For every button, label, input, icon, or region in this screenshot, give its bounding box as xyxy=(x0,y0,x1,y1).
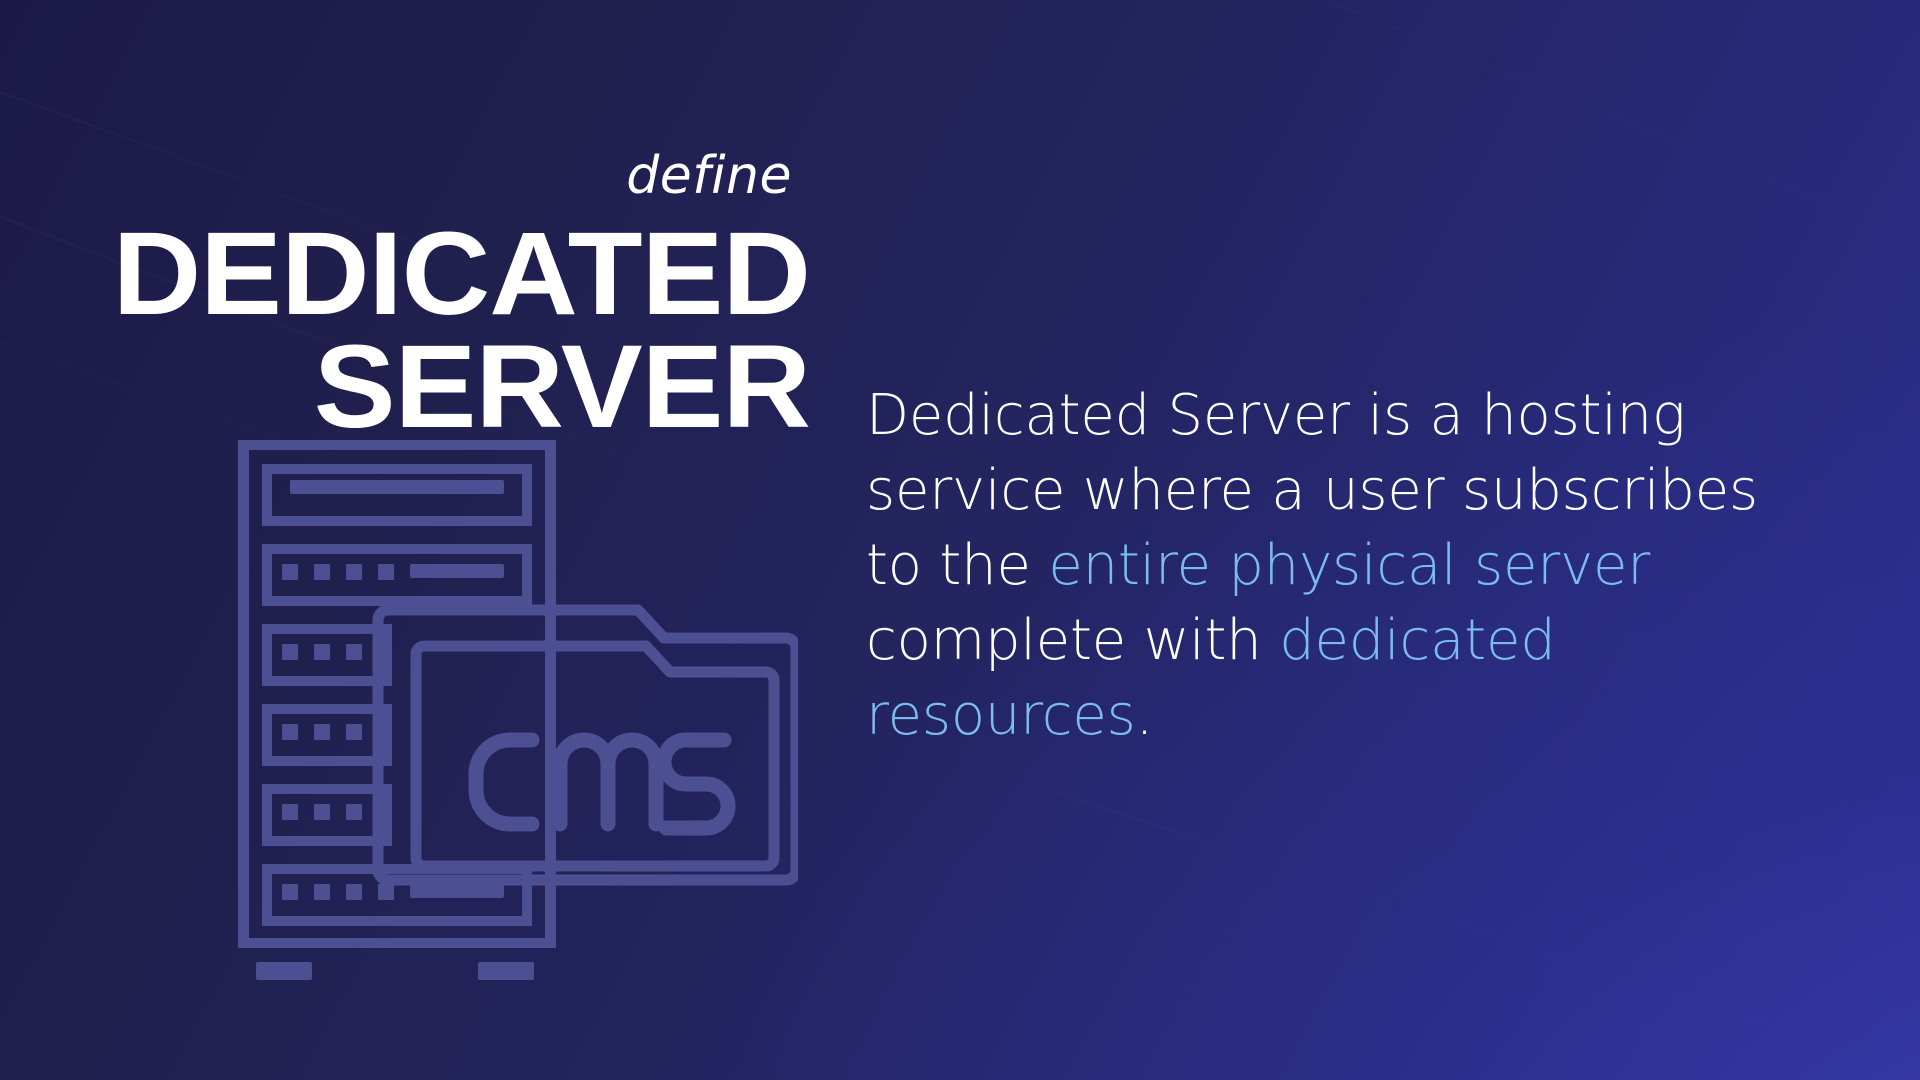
server-rack-cms-folder-icon xyxy=(238,440,798,988)
poster-canvas: define DEDICATED SERVER Dedicated Server… xyxy=(0,0,1920,1080)
background-streak xyxy=(1180,0,1920,279)
definition-segment-2: complete with xyxy=(866,608,1279,673)
definition-segment-1: entire physical server xyxy=(1048,533,1650,598)
heading-block: define DEDICATED SERVER xyxy=(0,150,810,441)
definition-segment-4: . xyxy=(1136,683,1154,748)
cms-folder-label xyxy=(476,740,728,828)
page-title-line-2: SERVER xyxy=(0,333,810,442)
page-title-line-1: DEDICATED xyxy=(0,220,810,329)
definition-paragraph: Dedicated Server is a hosting service wh… xyxy=(866,378,1796,753)
eyebrow-define: define xyxy=(0,150,810,202)
background-streak xyxy=(1020,780,1920,1080)
server-foot xyxy=(478,962,534,980)
server-foot xyxy=(256,962,312,980)
